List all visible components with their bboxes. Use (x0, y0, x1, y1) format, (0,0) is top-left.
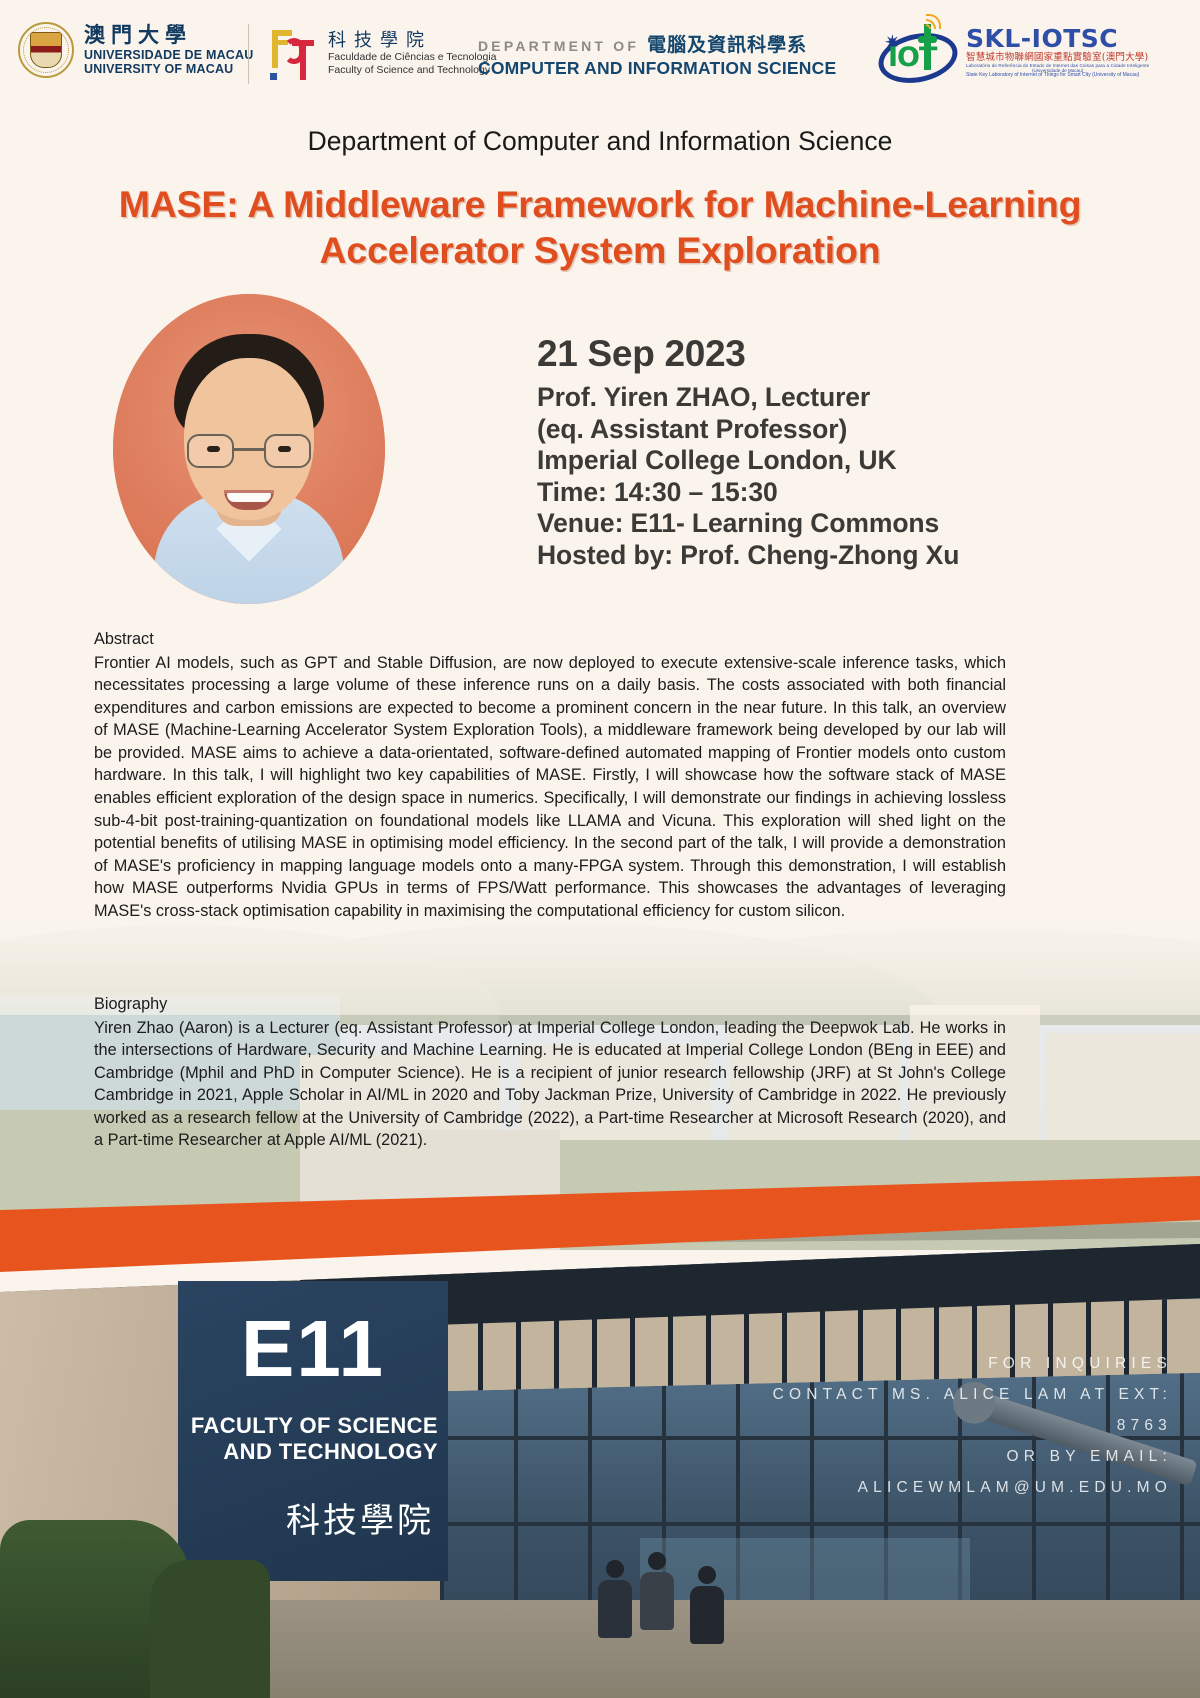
logo-university-of-macau: 澳門大學 UNIVERSIDADE DE MACAU UNIVERSITY OF… (18, 22, 254, 78)
logo-department-cis: DEPARTMENT OF 電腦及資訊科學系 COMPUTER AND INFO… (478, 30, 836, 79)
fst-english-name: Faculty of Science and Technology (328, 64, 497, 77)
talk-title: MASE: A Middleware Framework for Machine… (55, 182, 1145, 274)
um-portuguese-name: UNIVERSIDADE DE MACAU (84, 48, 254, 62)
dept-prefix: DEPARTMENT OF (478, 38, 639, 54)
photo-person-3 (690, 1566, 724, 1644)
photo-shrub-left-2 (150, 1560, 270, 1698)
sign-faculty-chinese: 科技學院 (178, 1493, 434, 1542)
abstract-heading: Abstract (94, 628, 1006, 651)
skl-chinese-name: 智慧城市物聯網國家重點實驗室(澳門大學) (966, 53, 1149, 63)
eyeglasses-icon (187, 434, 311, 468)
speaker-rank: (eq. Assistant Professor) (537, 416, 1097, 443)
abstract-section: Abstract Frontier AI models, such as GPT… (94, 628, 1006, 922)
speaker-photo (113, 294, 385, 604)
wifi-icon (926, 12, 952, 34)
event-venue: Venue: E11- Learning Commons (537, 510, 1097, 537)
department-line: Department of Computer and Information S… (0, 126, 1200, 157)
um-chinese-name: 澳門大學 (84, 24, 254, 48)
iot-tower-icon: ✷ IOT (876, 16, 960, 88)
skl-acronym: SKL-IOTSC (966, 25, 1149, 53)
fst-portuguese-name: Faculdade de Ciências e Tecnologia (328, 51, 497, 64)
header-logo-bar: 澳門大學 UNIVERSIDADE DE MACAU UNIVERSITY OF… (0, 0, 1200, 110)
event-host: Hosted by: Prof. Cheng-Zhong Xu (537, 542, 1097, 569)
photo-person-1 (598, 1560, 632, 1638)
logo-divider (248, 24, 249, 84)
contact-line-1: FOR INQUIRIES (612, 1348, 1172, 1379)
dept-english-name: COMPUTER AND INFORMATION SCIENCE (478, 58, 836, 79)
sign-faculty-line2: AND TECHNOLOGY (178, 1439, 438, 1465)
venue-sign: E11 FACULTY OF SCIENCE AND TECHNOLOGY 科技… (178, 1281, 448, 1581)
sign-faculty-line1: FACULTY OF SCIENCE (178, 1413, 438, 1439)
speaker-affiliation: Imperial College London, UK (537, 447, 1097, 474)
sign-building-code: E11 (178, 1303, 448, 1395)
dept-chinese-name: 電腦及資訊科學系 (647, 30, 807, 57)
logo-faculty-science-technology: 科技學院 Faculdade de Ciências e Tecnologia … (268, 24, 497, 82)
contact-block: FOR INQUIRIES CONTACT MS. ALICE LAM AT E… (612, 1348, 1172, 1503)
logo-skl-iotsc: ✷ IOT SKL-IOTSC 智慧城市物聯網國家重點實驗室(澳門大學) Lab… (876, 16, 1149, 88)
skl-english-name: State Key Laboratory of Internet of Thin… (966, 73, 1149, 79)
speaker-name: Prof. Yiren ZHAO, Lecturer (537, 384, 1097, 411)
event-date: 21 Sep 2023 (537, 335, 1097, 372)
speaker-details: 21 Sep 2023 Prof. Yiren ZHAO, Lecturer (… (537, 335, 1097, 573)
biography-section: Biography Yiren Zhao (Aaron) is a Lectur… (94, 993, 1006, 1152)
contact-line-5: ALICEWMLAM@UM.EDU.MO (612, 1472, 1172, 1503)
fst-monogram-icon (268, 24, 320, 82)
fst-chinese-name: 科技學院 (328, 30, 497, 52)
contact-line-4: OR BY EMAIL: (612, 1441, 1172, 1472)
um-crest-icon (18, 22, 74, 78)
biography-body: Yiren Zhao (Aaron) is a Lecturer (eq. As… (94, 1017, 1006, 1152)
photo-person-2 (640, 1552, 674, 1630)
contact-line-2: CONTACT MS. ALICE LAM AT EXT: (612, 1379, 1172, 1410)
abstract-body: Frontier AI models, such as GPT and Stab… (94, 652, 1006, 923)
contact-line-3: 8763 (612, 1410, 1172, 1441)
event-time: Time: 14:30 – 15:30 (537, 479, 1097, 506)
biography-heading: Biography (94, 993, 1006, 1016)
um-english-name: UNIVERSITY OF MACAU (84, 62, 254, 76)
